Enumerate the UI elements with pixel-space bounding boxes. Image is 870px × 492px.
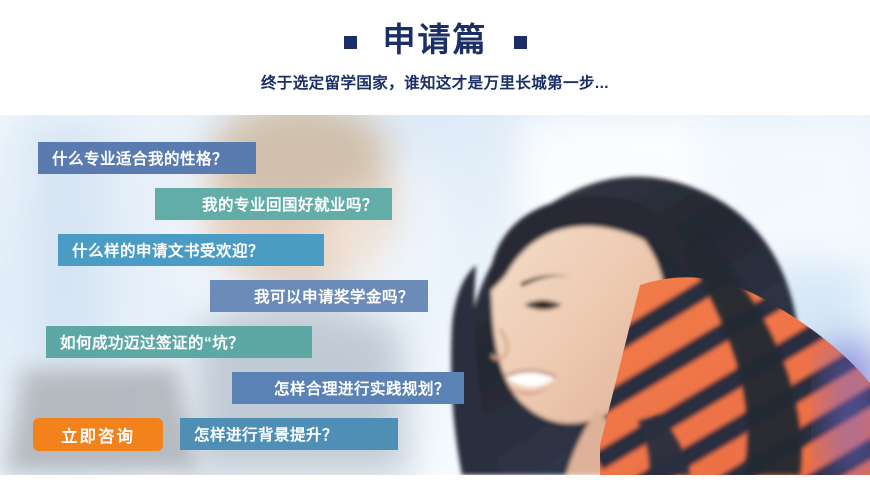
title-row: 申请篇	[0, 22, 870, 58]
question-list: 什么专业适合我的性格？ 我的专业回国好就业吗？ 什么样的申请文书受欢迎？ 我可以…	[0, 115, 870, 492]
question-label: 如何成功迈过签证的“坑？	[60, 331, 244, 353]
page-subtitle: 终于选定留学国家，谁知这才是万里长城第一步...	[0, 71, 870, 93]
question-bar-2[interactable]: 我的专业回国好就业吗？	[155, 188, 392, 220]
page-title: 申请篇	[383, 22, 488, 58]
question-label: 怎样进行背景提升？	[194, 423, 338, 445]
question-label: 我可以申请奖学金吗？	[254, 285, 414, 307]
question-bar-3[interactable]: 什么样的申请文书受欢迎？	[58, 234, 324, 266]
banner-header: 申请篇 终于选定留学国家，谁知这才是万里长城第一步...	[0, 0, 870, 115]
question-label: 什么样的申请文书受欢迎？	[72, 239, 264, 261]
question-bar-4[interactable]: 我可以申请奖学金吗？	[210, 280, 428, 312]
promo-banner: 申请篇 终于选定留学国家，谁知这才是万里长城第一步...	[0, 0, 870, 492]
footer-whitespace	[0, 475, 870, 492]
consult-now-button[interactable]: 立即咨询	[33, 418, 163, 451]
square-bullet-right-icon	[514, 36, 527, 49]
question-label: 我的专业回国好就业吗？	[202, 193, 378, 215]
question-label: 什么专业适合我的性格？	[52, 147, 228, 169]
consult-now-label: 立即咨询	[61, 423, 135, 447]
question-bar-5[interactable]: 如何成功迈过签证的“坑？	[46, 326, 312, 358]
square-bullet-left-icon	[344, 36, 357, 49]
question-bar-1[interactable]: 什么专业适合我的性格？	[38, 142, 256, 174]
question-bar-6[interactable]: 怎样合理进行实践规划？	[232, 372, 464, 404]
question-bar-7[interactable]: 怎样进行背景提升？	[180, 418, 398, 450]
question-label: 怎样合理进行实践规划？	[274, 377, 450, 399]
